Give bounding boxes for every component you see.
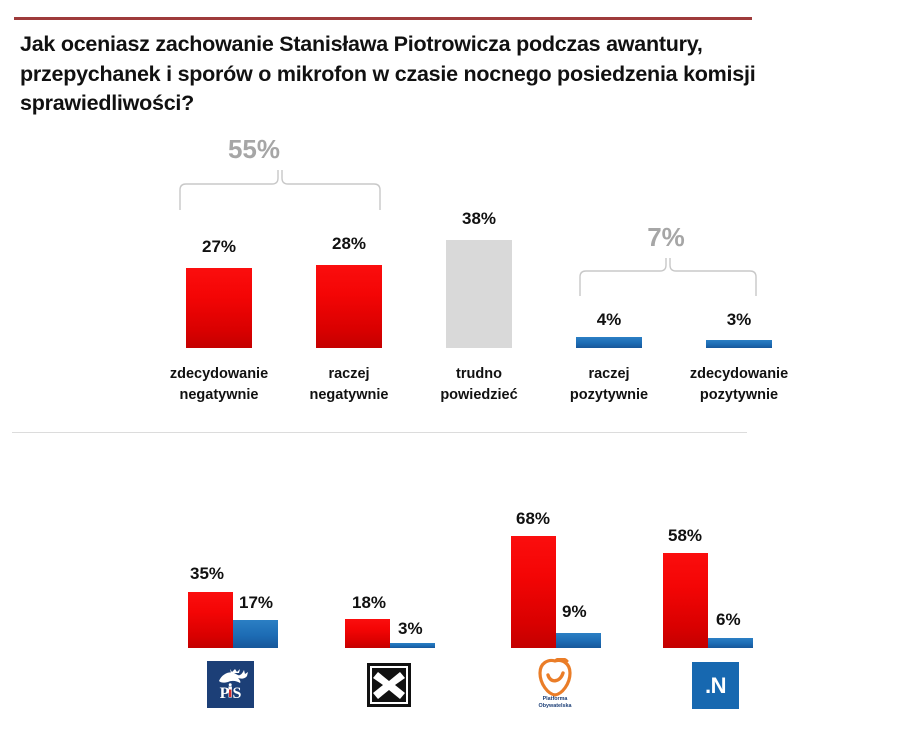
party-blue-value-label-3: 9% (562, 602, 587, 622)
platforma-obywatelska-logo-caption: Platforma Obywatelska (525, 696, 585, 710)
bar-zdecydowanie-negatywnie (186, 268, 252, 348)
party-blue-value-label-2: 3% (398, 619, 423, 639)
overall-results-chart: 55% 7% 27% zdecydowanie negatywnie 28% r… (0, 0, 898, 430)
bar-category-label-5-line-1: zdecydowanie (669, 364, 809, 385)
party-bar-positive-nowoczesna (708, 638, 753, 648)
party-bar-positive-pis (233, 620, 278, 648)
bar-raczej-pozytywnie (576, 337, 642, 348)
bar-category-label-4: raczej pozytywnie (539, 364, 679, 405)
bar-category-label-1-line-2: negatywnie (149, 385, 289, 406)
bar-category-label-3-line-2: powiedzieć (409, 385, 549, 406)
party-red-value-label-4: 58% (668, 526, 702, 546)
bar-category-label-5-line-2: pozytywnie (669, 385, 809, 406)
bar-value-label-5: 3% (696, 310, 782, 330)
party-bar-positive-po (556, 633, 601, 648)
party-bar-negative-po (511, 536, 556, 648)
party-red-value-label-2: 18% (352, 593, 386, 613)
party-bar-negative-kukiz (345, 619, 390, 648)
bar-value-label-1: 27% (176, 237, 262, 257)
bar-category-label-4-line-1: raczej (539, 364, 679, 385)
group-label-positive: 7% (626, 222, 706, 253)
kukiz-x-logo-icon (367, 663, 411, 707)
bar-category-label-3: trudno powiedzieć (409, 364, 549, 405)
bar-category-label-3-line-1: trudno (409, 364, 549, 385)
results-by-party-chart: 35% 17% P S 18% 3% (0, 430, 898, 745)
group-label-negative: 55% (199, 134, 309, 165)
party-blue-value-label-4: 6% (716, 610, 741, 630)
bar-category-label-2-line-1: raczej (279, 364, 419, 385)
nowoczesna-logo-text: .N (692, 662, 739, 709)
po-caption-line-2: Obywatelska (525, 703, 585, 710)
party-blue-value-label-1: 17% (239, 593, 273, 613)
bar-trudno-powiedziec (446, 240, 512, 348)
bar-value-label-3: 38% (436, 209, 522, 229)
bar-category-label-2: raczej negatywnie (279, 364, 419, 405)
bar-value-label-2: 28% (306, 234, 392, 254)
bar-category-label-1-line-1: zdecydowanie (149, 364, 289, 385)
bar-value-label-4: 4% (566, 310, 652, 330)
bar-category-label-5: zdecydowanie pozytywnie (669, 364, 809, 405)
pis-logo-icon: P S (207, 661, 254, 708)
bar-zdecydowanie-pozytywnie (706, 340, 772, 348)
bracket-negative (178, 170, 382, 210)
platforma-obywatelska-logo-icon: Platforma Obywatelska (525, 658, 585, 710)
bar-category-label-2-line-2: negatywnie (279, 385, 419, 406)
party-bar-negative-pis (188, 592, 233, 648)
party-red-value-label-3: 68% (516, 509, 550, 529)
party-bar-negative-nowoczesna (663, 553, 708, 648)
bar-category-label-1: zdecydowanie negatywnie (149, 364, 289, 405)
po-caption-line-1: Platforma (525, 696, 585, 703)
nowoczesna-logo-icon: .N (692, 662, 739, 709)
bracket-positive (578, 258, 758, 296)
bar-category-label-4-line-2: pozytywnie (539, 385, 679, 406)
bar-raczej-negatywnie (316, 265, 382, 348)
party-bar-positive-kukiz (390, 643, 435, 648)
party-red-value-label-1: 35% (190, 564, 224, 584)
